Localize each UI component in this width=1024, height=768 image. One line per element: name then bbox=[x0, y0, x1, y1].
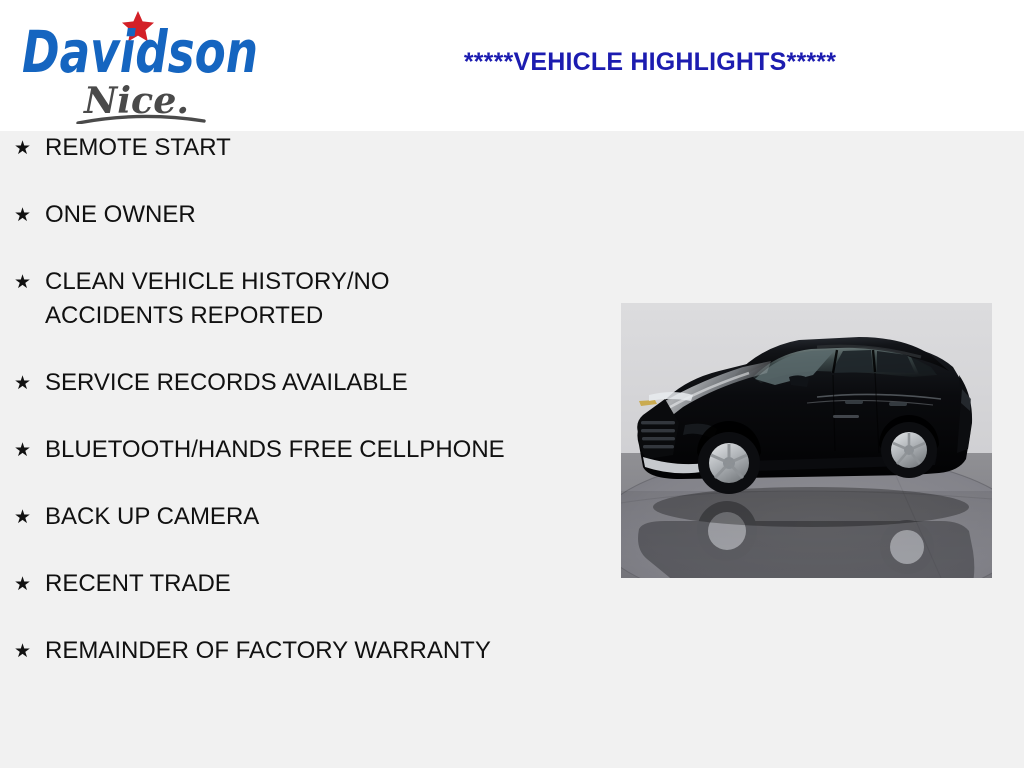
star-bullet-icon: ★ bbox=[14, 634, 45, 668]
logo-brand-text: Davidson bbox=[22, 18, 258, 86]
list-item: ★ BACK UP CAMERA bbox=[0, 500, 600, 534]
list-item: ★ REMOTE START bbox=[0, 131, 600, 165]
list-item: ★ REMAINDER OF FACTORY WARRANTY bbox=[0, 634, 600, 668]
star-bullet-icon: ★ bbox=[14, 366, 45, 400]
highlight-label: ONE OWNER bbox=[45, 198, 505, 232]
star-bullet-icon: ★ bbox=[14, 131, 45, 165]
highlight-label: REMAINDER OF FACTORY WARRANTY bbox=[45, 634, 505, 668]
star-bullet-icon: ★ bbox=[14, 265, 45, 299]
highlight-label: REMOTE START bbox=[45, 131, 505, 165]
list-item: ★ ONE OWNER bbox=[0, 198, 600, 232]
highlight-label: SERVICE RECORDS AVAILABLE bbox=[45, 366, 505, 400]
list-item: ★ SERVICE RECORDS AVAILABLE bbox=[0, 366, 600, 400]
list-item: ★ BLUETOOTH/HANDS FREE CELLPHONE bbox=[0, 433, 600, 467]
rear-wheel bbox=[881, 422, 937, 478]
star-bullet-icon: ★ bbox=[14, 433, 45, 467]
star-bullet-icon: ★ bbox=[14, 500, 45, 534]
highlight-label: BLUETOOTH/HANDS FREE CELLPHONE bbox=[45, 433, 505, 467]
list-item: ★ CLEAN VEHICLE HISTORY/NO ACCIDENTS REP… bbox=[0, 265, 600, 333]
page-header: Davidson Nice. *****VEHICLE HIGHLIGHTS**… bbox=[0, 0, 1024, 131]
front-wheel bbox=[698, 432, 760, 494]
star-bullet-icon: ★ bbox=[14, 567, 45, 601]
highlight-label: BACK UP CAMERA bbox=[45, 500, 505, 534]
highlight-label: CLEAN VEHICLE HISTORY/NO ACCIDENTS REPOR… bbox=[45, 265, 505, 333]
page-title: *****VEHICLE HIGHLIGHTS***** bbox=[300, 48, 1000, 77]
dealer-logo: Davidson Nice. bbox=[14, 8, 264, 124]
star-bullet-icon: ★ bbox=[14, 198, 45, 232]
vehicle-photo bbox=[621, 303, 992, 578]
highlight-label: RECENT TRADE bbox=[45, 567, 505, 601]
vehicle-highlights-page: Davidson Nice. *****VEHICLE HIGHLIGHTS**… bbox=[0, 0, 1024, 768]
vehicle-highlights-list: ★ REMOTE START ★ ONE OWNER ★ CLEAN VEHIC… bbox=[0, 131, 600, 701]
list-item: ★ RECENT TRADE bbox=[0, 567, 600, 601]
